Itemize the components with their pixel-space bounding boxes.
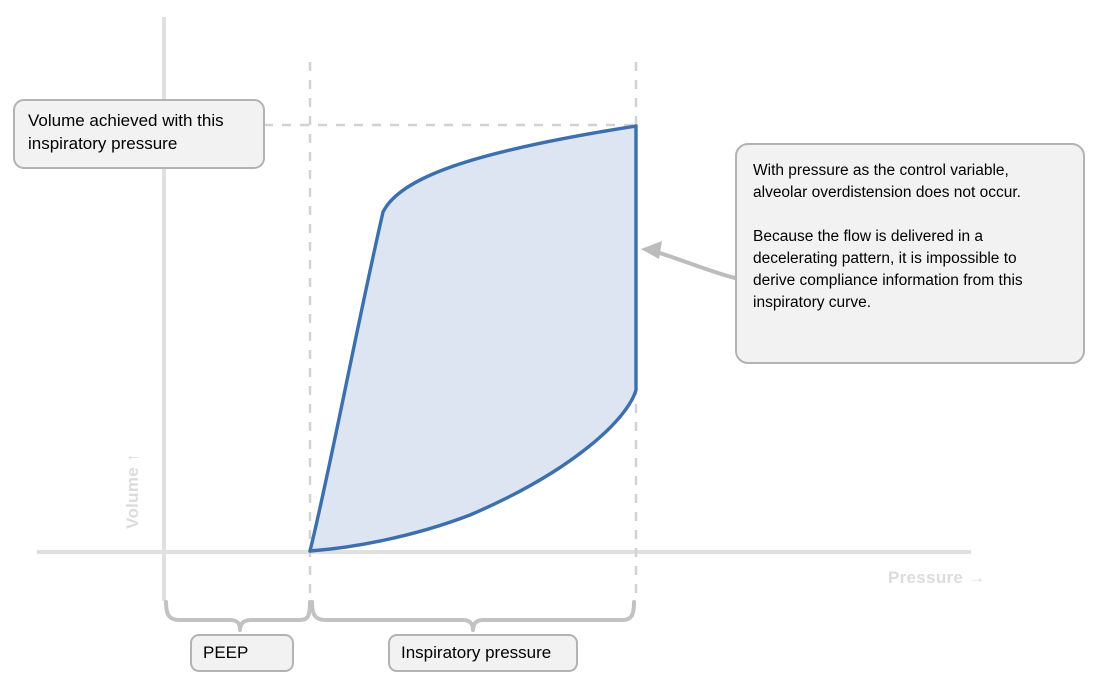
- note-p2-line-1: Because the flow is delivered in a: [753, 228, 983, 245]
- note-p1-line-1: With pressure as the control variable,: [753, 162, 1009, 179]
- diagram-canvas: Volume achieved with this inspiratory pr…: [0, 0, 1100, 689]
- note-paragraph-2: Because the flow is delivered in a decel…: [753, 226, 1067, 314]
- y-axis-label-text: Volume: [123, 467, 142, 529]
- callout-volume-achieved: Volume achieved with this inspiratory pr…: [13, 99, 265, 169]
- peep-brace: [166, 602, 310, 630]
- label-peep: PEEP: [190, 634, 294, 672]
- y-axis-label: Volume ↑: [123, 431, 143, 551]
- note-paragraph-1: With pressure as the control variable, a…: [753, 160, 1067, 204]
- callout-volume-line-1: Volume achieved with this: [28, 109, 250, 132]
- callout-volume-line-2: inspiratory pressure: [28, 132, 250, 155]
- inspiratory-pressure-brace: [312, 602, 634, 630]
- x-axis-label: Pressure →: [888, 568, 986, 588]
- note-p2-line-3: derive compliance information from this: [753, 272, 1023, 289]
- note-p2-line-2: decelerating pattern, it is impossible t…: [753, 250, 1017, 267]
- note-p2-line-4: inspiratory curve.: [753, 294, 871, 311]
- note-p1-line-2: alveolar overdistension does not occur.: [753, 184, 1021, 201]
- callout-pressure-control-note: With pressure as the control variable, a…: [735, 143, 1085, 364]
- x-axis-label-text: Pressure: [888, 568, 963, 587]
- annotation-arrow-head-icon: [641, 241, 662, 259]
- pv-loop-fill: [310, 126, 636, 551]
- annotation-arrow-line: [650, 250, 735, 278]
- y-axis-arrow-icon: ↑: [123, 453, 142, 462]
- x-axis-arrow-icon: →: [968, 568, 985, 587]
- label-inspiratory-pressure: Inspiratory pressure: [388, 634, 578, 672]
